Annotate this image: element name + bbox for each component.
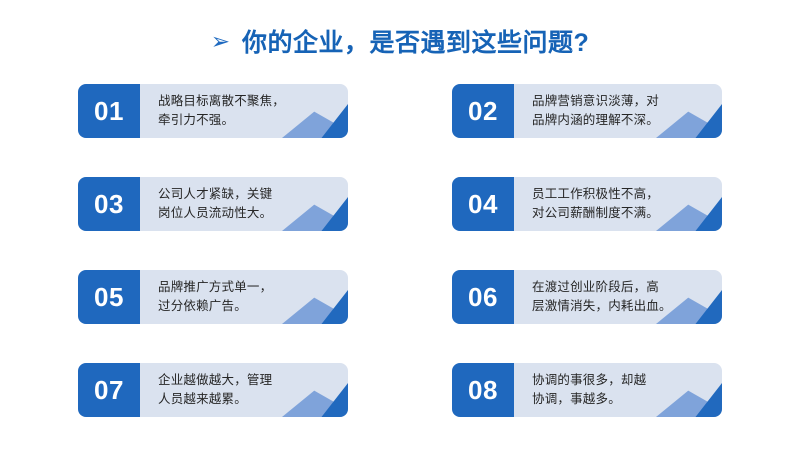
problem-card-06[interactable]: 06 在渡过创业阶段后，高 层激情消失，内耗出血。	[452, 270, 722, 324]
card-text: 协调的事很多，却越 协调，事越多。	[514, 371, 656, 410]
decorative-mountain-light-icon	[282, 389, 334, 417]
card-body: 战略目标离散不聚焦， 牵引力不强。	[140, 84, 348, 138]
card-number-badge: 08	[452, 363, 514, 417]
card-text-line-1: 品牌推广方式单一，	[158, 278, 272, 297]
card-text-line-1: 员工工作积极性不高，	[532, 185, 659, 204]
card-text-line-2: 对公司薪酬制度不满。	[532, 204, 659, 223]
page-title: 你的企业，是否遇到这些问题?	[242, 23, 589, 59]
card-number-badge: 03	[78, 177, 140, 231]
card-text-line-2: 品牌内涵的理解不深。	[532, 111, 659, 130]
decorative-triangle-dark-icon	[688, 197, 722, 231]
card-text-line-1: 公司人才紧缺，关键	[158, 185, 272, 204]
card-text: 企业越做越大，管理 人员越来越累。	[140, 371, 282, 410]
page-title-row: ➢ 你的企业，是否遇到这些问题?	[0, 20, 800, 62]
decorative-triangle-dark-icon	[314, 290, 348, 324]
card-text-line-1: 战略目标离散不聚焦，	[158, 92, 285, 111]
card-text: 战略目标离散不聚焦， 牵引力不强。	[140, 92, 295, 131]
card-text-line-2: 人员越来越累。	[158, 390, 272, 409]
decorative-triangle-dark-icon	[314, 197, 348, 231]
decorative-mountain-light-icon	[656, 389, 708, 417]
card-body: 品牌营销意识淡薄，对 品牌内涵的理解不深。	[514, 84, 722, 138]
card-number-badge: 06	[452, 270, 514, 324]
card-body: 品牌推广方式单一， 过分依赖广告。	[140, 270, 348, 324]
card-text-line-1: 品牌营销意识淡薄，对	[532, 92, 659, 111]
problem-card-05[interactable]: 05 品牌推广方式单一， 过分依赖广告。	[78, 270, 348, 324]
card-number-badge: 04	[452, 177, 514, 231]
card-text-line-2: 岗位人员流动性大。	[158, 204, 272, 223]
card-text: 品牌推广方式单一， 过分依赖广告。	[140, 278, 282, 317]
card-text-line-1: 企业越做越大，管理	[158, 371, 272, 390]
card-body: 企业越做越大，管理 人员越来越累。	[140, 363, 348, 417]
card-text: 员工工作积极性不高， 对公司薪酬制度不满。	[514, 185, 669, 224]
card-text-line-2: 层激情消失，内耗出血。	[532, 297, 672, 316]
card-body: 协调的事很多，却越 协调，事越多。	[514, 363, 722, 417]
decorative-mountain-light-icon	[282, 296, 334, 324]
decorative-triangle-dark-icon	[688, 290, 722, 324]
problem-card-02[interactable]: 02 品牌营销意识淡薄，对 品牌内涵的理解不深。	[452, 84, 722, 138]
card-number-badge: 07	[78, 363, 140, 417]
card-number-badge: 01	[78, 84, 140, 138]
problem-card-08[interactable]: 08 协调的事很多，却越 协调，事越多。	[452, 363, 722, 417]
problem-card-03[interactable]: 03 公司人才紧缺，关键 岗位人员流动性大。	[78, 177, 348, 231]
card-text: 在渡过创业阶段后，高 层激情消失，内耗出血。	[514, 278, 682, 317]
card-text-line-1: 协调的事很多，却越	[532, 371, 646, 390]
problem-card-01[interactable]: 01 战略目标离散不聚焦， 牵引力不强。	[78, 84, 348, 138]
decorative-triangle-dark-icon	[314, 383, 348, 417]
arrow-bullet-icon: ➢	[211, 31, 230, 54]
decorative-triangle-dark-icon	[314, 104, 348, 138]
problem-card-04[interactable]: 04 员工工作积极性不高， 对公司薪酬制度不满。	[452, 177, 722, 231]
card-number-badge: 02	[452, 84, 514, 138]
card-text-line-2: 牵引力不强。	[158, 111, 285, 130]
card-text-line-1: 在渡过创业阶段后，高	[532, 278, 672, 297]
card-text: 公司人才紧缺，关键 岗位人员流动性大。	[140, 185, 282, 224]
decorative-triangle-dark-icon	[688, 104, 722, 138]
decorative-triangle-dark-icon	[688, 383, 722, 417]
card-text-line-2: 协调，事越多。	[532, 390, 646, 409]
card-text: 品牌营销意识淡薄，对 品牌内涵的理解不深。	[514, 92, 669, 131]
card-body: 员工工作积极性不高， 对公司薪酬制度不满。	[514, 177, 722, 231]
problem-card-grid: 01 战略目标离散不聚焦， 牵引力不强。 02 品牌营销意识淡薄，对 品牌内涵的…	[78, 84, 722, 424]
card-body: 公司人才紧缺，关键 岗位人员流动性大。	[140, 177, 348, 231]
decorative-mountain-light-icon	[282, 203, 334, 231]
card-text-line-2: 过分依赖广告。	[158, 297, 272, 316]
problem-card-07[interactable]: 07 企业越做越大，管理 人员越来越累。	[78, 363, 348, 417]
card-body: 在渡过创业阶段后，高 层激情消失，内耗出血。	[514, 270, 722, 324]
card-number-badge: 05	[78, 270, 140, 324]
